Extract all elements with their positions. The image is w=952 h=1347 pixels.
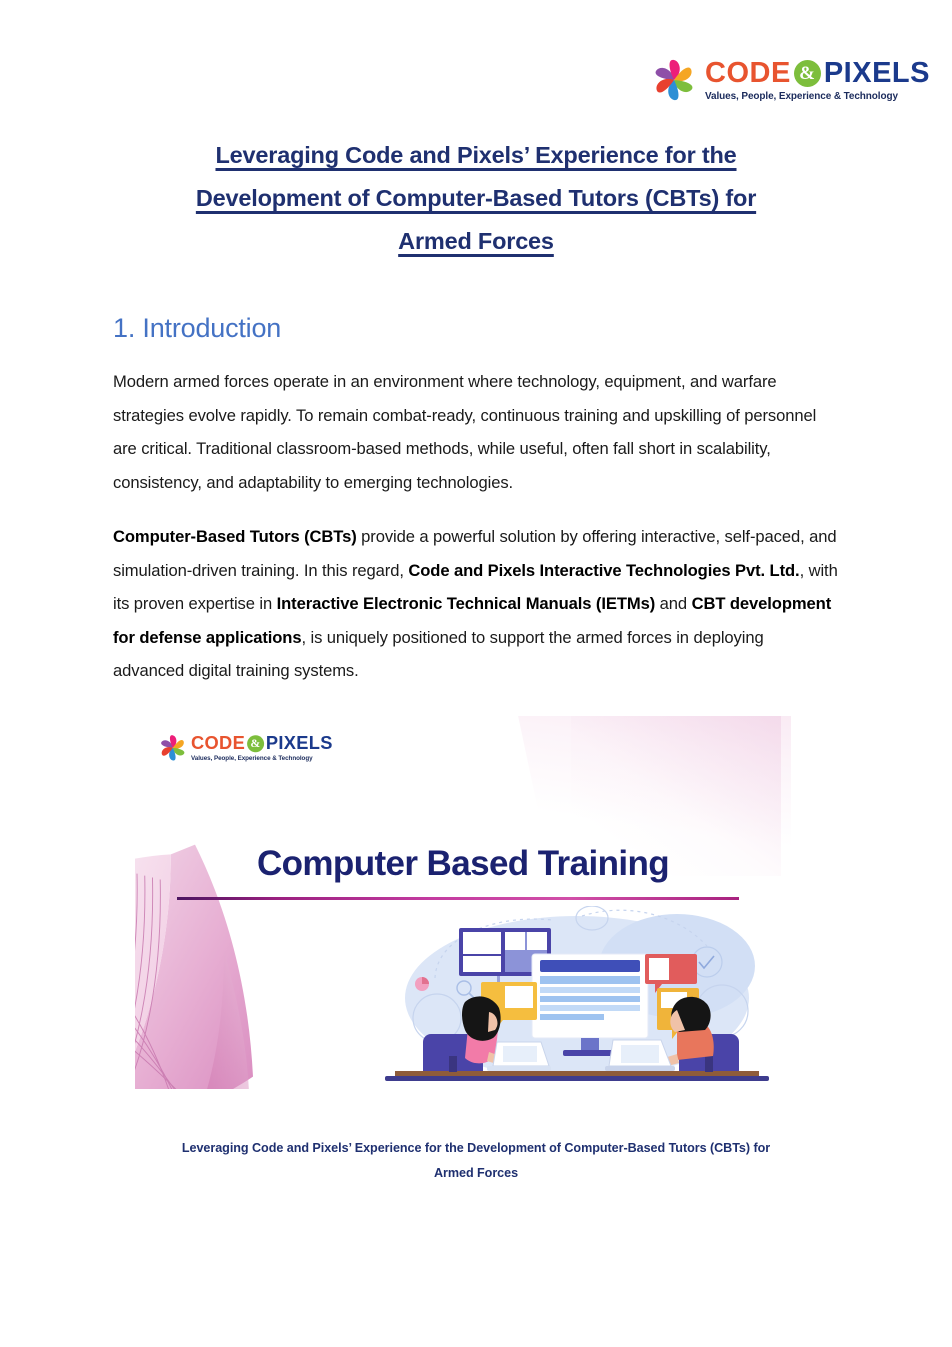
figure-caption: Leveraging Code and Pixels’ Experience f… bbox=[113, 1089, 839, 1186]
figure-brand-word-code: CODE bbox=[191, 734, 245, 752]
text-segment-5: and bbox=[655, 594, 691, 613]
figure-title-underline-rule bbox=[177, 897, 739, 900]
text-segment-2: Code and Pixels Interactive Technologies… bbox=[408, 561, 799, 580]
document-title-line-3: Armed Forces bbox=[398, 228, 554, 254]
figure-brand-text: CODE & PIXELS Values, People, Experience… bbox=[191, 734, 333, 761]
paragraph-introduction-2: Computer-Based Tutors (CBTs) provide a p… bbox=[113, 499, 839, 688]
document-title-line-2: Development of Computer-Based Tutors (CB… bbox=[196, 185, 756, 211]
paragraph-introduction-1: Modern armed forces operate in an enviro… bbox=[113, 344, 839, 499]
text-segment-0: Computer-Based Tutors (CBTs) bbox=[113, 527, 357, 546]
text-segment-4: Interactive Electronic Technical Manuals… bbox=[277, 594, 656, 613]
figure-brand-word-pixels: PIXELS bbox=[266, 734, 333, 752]
figure-brand-ampersand-badge: & bbox=[247, 735, 264, 752]
figure-caption-line-1: Leveraging Code and Pixels’ Experience f… bbox=[182, 1141, 770, 1155]
figure-pinwheel-logo-icon bbox=[157, 734, 189, 762]
document-title: Leveraging Code and Pixels’ Experience f… bbox=[113, 0, 839, 263]
figure-caption-line-2: Armed Forces bbox=[434, 1166, 518, 1180]
brand-word-pixels: PIXELS bbox=[824, 59, 930, 88]
document-body: Leveraging Code and Pixels’ Experience f… bbox=[113, 0, 839, 1186]
figure-brand-logo: CODE & PIXELS Values, People, Experience… bbox=[157, 734, 333, 762]
figure-brand-tagline: Values, People, Experience & Technology bbox=[191, 755, 313, 762]
document-title-line-1: Leveraging Code and Pixels’ Experience f… bbox=[215, 142, 736, 168]
section-heading-introduction: 1. Introduction bbox=[113, 263, 839, 344]
figure-brand-wordmark: CODE & PIXELS bbox=[191, 734, 333, 752]
figure-image: CODE & PIXELS Values, People, Experience… bbox=[135, 716, 791, 1089]
figure-cbt-banner: CODE & PIXELS Values, People, Experience… bbox=[113, 688, 839, 1186]
figure-banner-title: Computer Based Training bbox=[135, 844, 791, 884]
figure-illustration bbox=[377, 906, 777, 1089]
